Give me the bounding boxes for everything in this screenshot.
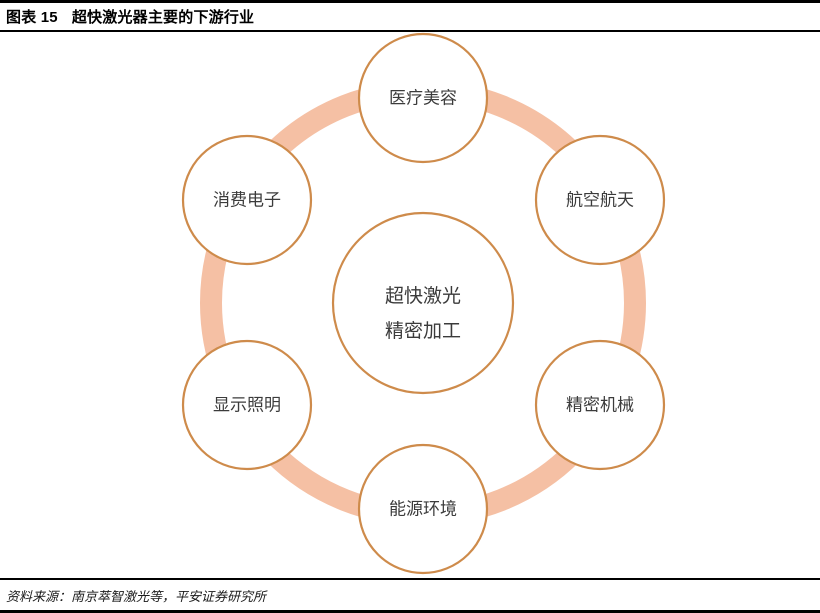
node-label: 精密机械 [566, 395, 634, 414]
node-precision-machinery[interactable]: 精密机械 [536, 341, 664, 469]
figure-number: 图表 15 [6, 6, 58, 27]
node-label: 能源环境 [389, 499, 457, 518]
node-label: 医疗美容 [389, 88, 457, 107]
node-medical-aesthetics[interactable]: 医疗美容 [359, 34, 487, 162]
hub-label-line2: 精密加工 [385, 320, 461, 342]
figure-source-bar: 资料来源：南京萃智激光等，平安证券研究所 [0, 580, 820, 610]
hub-label-line1: 超快激光 [385, 285, 461, 307]
node-display-lighting[interactable]: 显示照明 [183, 341, 311, 469]
node-consumer-electronics[interactable]: 消费电子 [183, 136, 311, 264]
node-label: 航空航天 [566, 190, 634, 209]
node-label: 显示照明 [213, 395, 281, 414]
figure-container: 图表 15 超快激光器主要的下游行业 超快激光 精密加工 医疗美容 航空航天 [0, 0, 820, 613]
figure-title-bar: 图表 15 超快激光器主要的下游行业 [0, 3, 820, 30]
node-energy-environment[interactable]: 能源环境 [359, 445, 487, 573]
node-aerospace[interactable]: 航空航天 [536, 136, 664, 264]
node-label: 消费电子 [213, 190, 281, 209]
source-text: 资料来源：南京萃智激光等，平安证券研究所 [6, 586, 266, 605]
page-title: 超快激光器主要的下游行业 [72, 6, 254, 27]
diagram-canvas: 超快激光 精密加工 医疗美容 航空航天 精密机械 能源环境 [0, 32, 820, 578]
